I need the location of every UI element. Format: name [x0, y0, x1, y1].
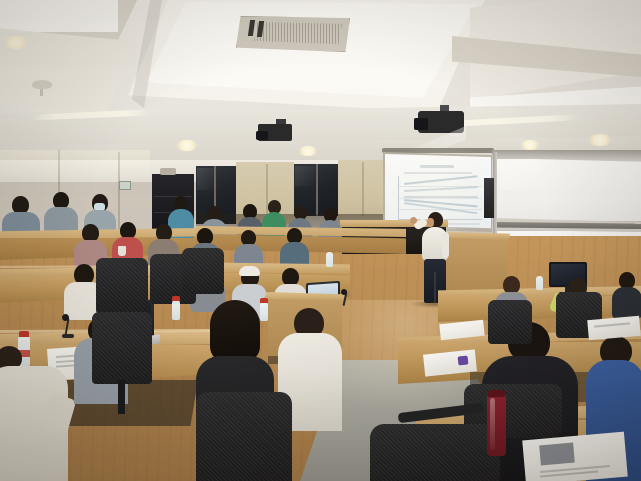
person-front-left	[0, 346, 82, 481]
wall-highlight-left	[0, 150, 150, 180]
downlight	[588, 134, 612, 146]
chair-mesh	[196, 392, 292, 481]
white-cap	[239, 266, 260, 276]
presenter-arm-down	[442, 232, 449, 258]
chair-mesh	[370, 424, 500, 481]
bottle-cap	[260, 298, 268, 303]
microphone-base	[62, 334, 74, 338]
bottle-cap	[19, 331, 29, 337]
purple-item	[458, 356, 469, 366]
office-chair[interactable]	[196, 392, 292, 481]
classroom-photo	[0, 0, 641, 481]
downlight	[298, 146, 318, 156]
av-wall-equipment	[484, 178, 494, 218]
chair-mesh	[182, 248, 224, 294]
downlight	[4, 36, 28, 49]
office-chair[interactable]	[182, 248, 224, 294]
office-chair[interactable]	[488, 300, 532, 344]
fire-sprinkler	[32, 80, 52, 89]
office-chair-foreground[interactable]	[370, 424, 500, 481]
slide-title	[420, 165, 454, 168]
presenter-hand	[410, 217, 417, 224]
chair-mesh	[96, 258, 148, 314]
paper-image-block	[539, 443, 575, 466]
water-bottle	[536, 276, 543, 290]
wall-seam	[362, 162, 364, 216]
cabinet-top-object	[160, 168, 176, 175]
chart-series-middle	[404, 196, 478, 198]
thermos-highlight	[490, 398, 495, 450]
microphone-head	[62, 314, 69, 321]
office-chair[interactable]	[92, 312, 152, 384]
slide-subtitle	[404, 172, 472, 174]
office-chair[interactable]	[96, 258, 148, 314]
water-bottle	[260, 302, 268, 321]
window-reflection	[295, 166, 315, 186]
microphone-head	[341, 289, 347, 295]
torso	[612, 287, 641, 319]
thermos-cap	[488, 390, 505, 397]
projector-lens	[256, 131, 268, 140]
screen-roller	[382, 148, 494, 153]
hair	[210, 300, 260, 362]
chair-mesh	[488, 300, 532, 344]
water-bottle	[326, 252, 333, 267]
water-bottle	[172, 300, 180, 320]
whiteboard-glare	[500, 160, 580, 190]
window-reflection	[197, 168, 215, 190]
person-right-3	[612, 272, 641, 318]
chair-post	[118, 380, 125, 414]
bottle-cap	[172, 296, 180, 301]
wall-sign	[119, 181, 131, 190]
vent-grille	[254, 22, 342, 44]
projector-lens	[414, 118, 428, 130]
chair-mesh	[92, 312, 152, 384]
presenter-face	[427, 218, 434, 227]
downlight	[176, 140, 198, 151]
paper-cup	[118, 246, 126, 256]
presenter-leg-split	[434, 272, 436, 303]
downlight	[520, 140, 540, 150]
ceiling-panel-a	[0, 0, 118, 32]
